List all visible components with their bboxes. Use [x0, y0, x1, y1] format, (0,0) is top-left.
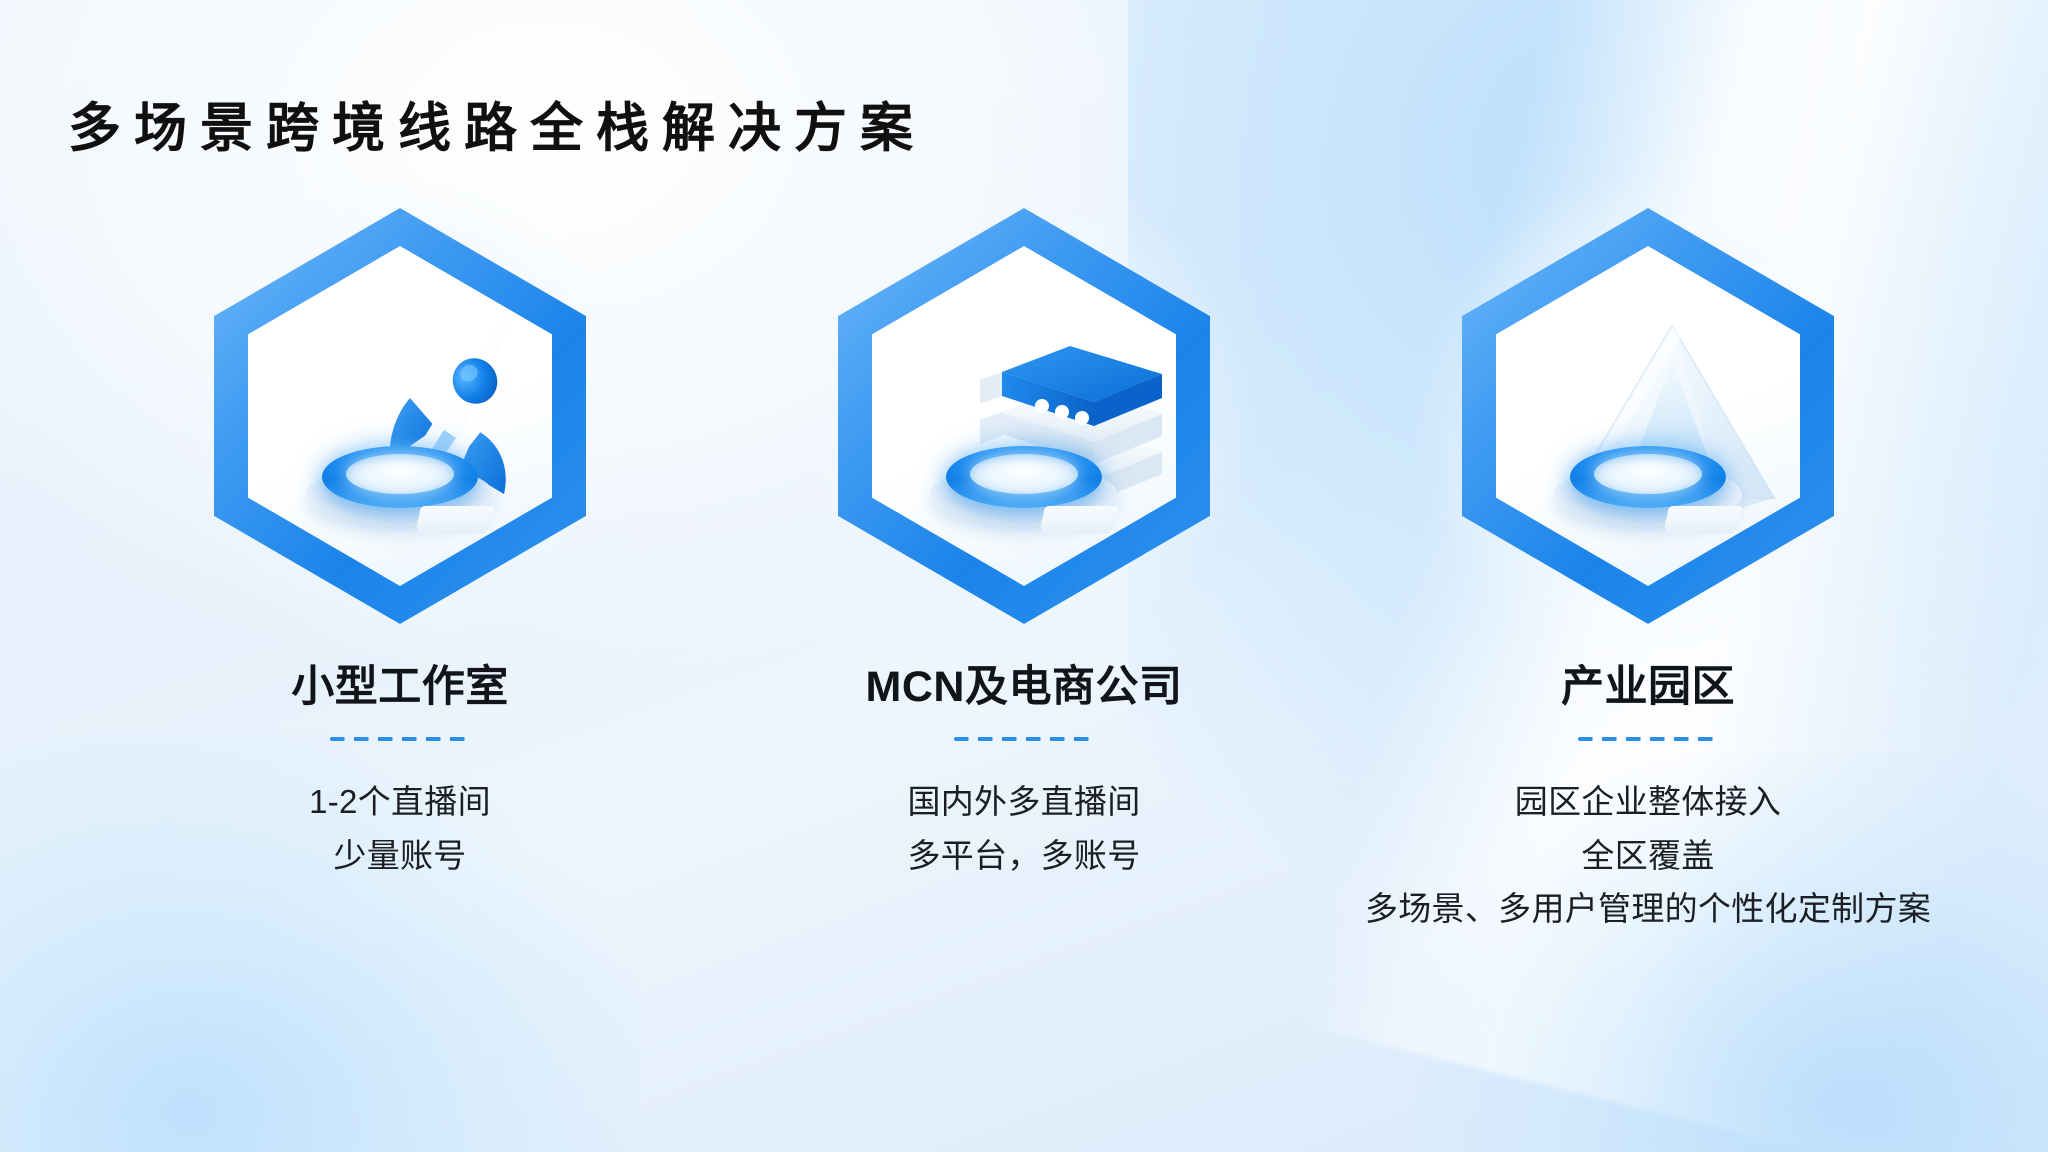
glow-ring-pedestal	[926, 438, 1122, 534]
card-divider	[1578, 737, 1718, 741]
card-body-line: 园区企业整体接入	[1365, 775, 1931, 828]
pedestal-core-glow	[346, 454, 454, 494]
hexagon-badge	[838, 208, 1210, 624]
card-title: 小型工作室	[291, 664, 509, 711]
poster-canvas: 多场景跨境线路全栈解决方案	[0, 0, 2048, 1152]
glow-ring-pedestal	[302, 438, 498, 534]
card-divider	[330, 737, 470, 741]
card-body-line: 多平台，多账号	[907, 829, 1140, 882]
card-body-line: 多场景、多用户管理的个性化定制方案	[1365, 882, 1931, 935]
pedestal-notch	[1663, 506, 1743, 534]
scenario-card-small-studio[interactable]: 小型工作室 1-2个直播间 少量账号	[150, 208, 650, 936]
pedestal-core-glow	[1594, 454, 1702, 494]
scenario-card-industrial-park[interactable]: 产业园区 园区企业整体接入 全区覆盖 多场景、多用户管理的个性化定制方案	[1398, 208, 1898, 936]
glow-ring-pedestal	[1550, 438, 1746, 534]
card-title: 产业园区	[1561, 664, 1735, 711]
card-body: 园区企业整体接入 全区覆盖 多场景、多用户管理的个性化定制方案	[1365, 775, 1931, 935]
scenario-card-row: 小型工作室 1-2个直播间 少量账号	[0, 208, 2048, 936]
hexagon-badge	[1462, 208, 1834, 624]
hexagon-badge	[214, 208, 586, 624]
card-body-line: 1-2个直播间	[309, 775, 491, 828]
pedestal-core-glow	[970, 454, 1078, 494]
card-divider	[954, 737, 1094, 741]
card-body-line: 国内外多直播间	[907, 775, 1140, 828]
pedestal-notch	[1039, 506, 1119, 534]
card-body-line: 少量账号	[309, 829, 491, 882]
scenario-card-mcn-ecommerce[interactable]: MCN及电商公司 国内外多直播间 多平台，多账号	[774, 208, 1274, 936]
pedestal-notch	[415, 506, 495, 534]
card-body-line: 全区覆盖	[1365, 829, 1931, 882]
card-body: 国内外多直播间 多平台，多账号	[907, 775, 1140, 882]
card-body: 1-2个直播间 少量账号	[309, 775, 491, 882]
card-title: MCN及电商公司	[866, 664, 1183, 711]
page-title: 多场景跨境线路全栈解决方案	[68, 86, 926, 162]
